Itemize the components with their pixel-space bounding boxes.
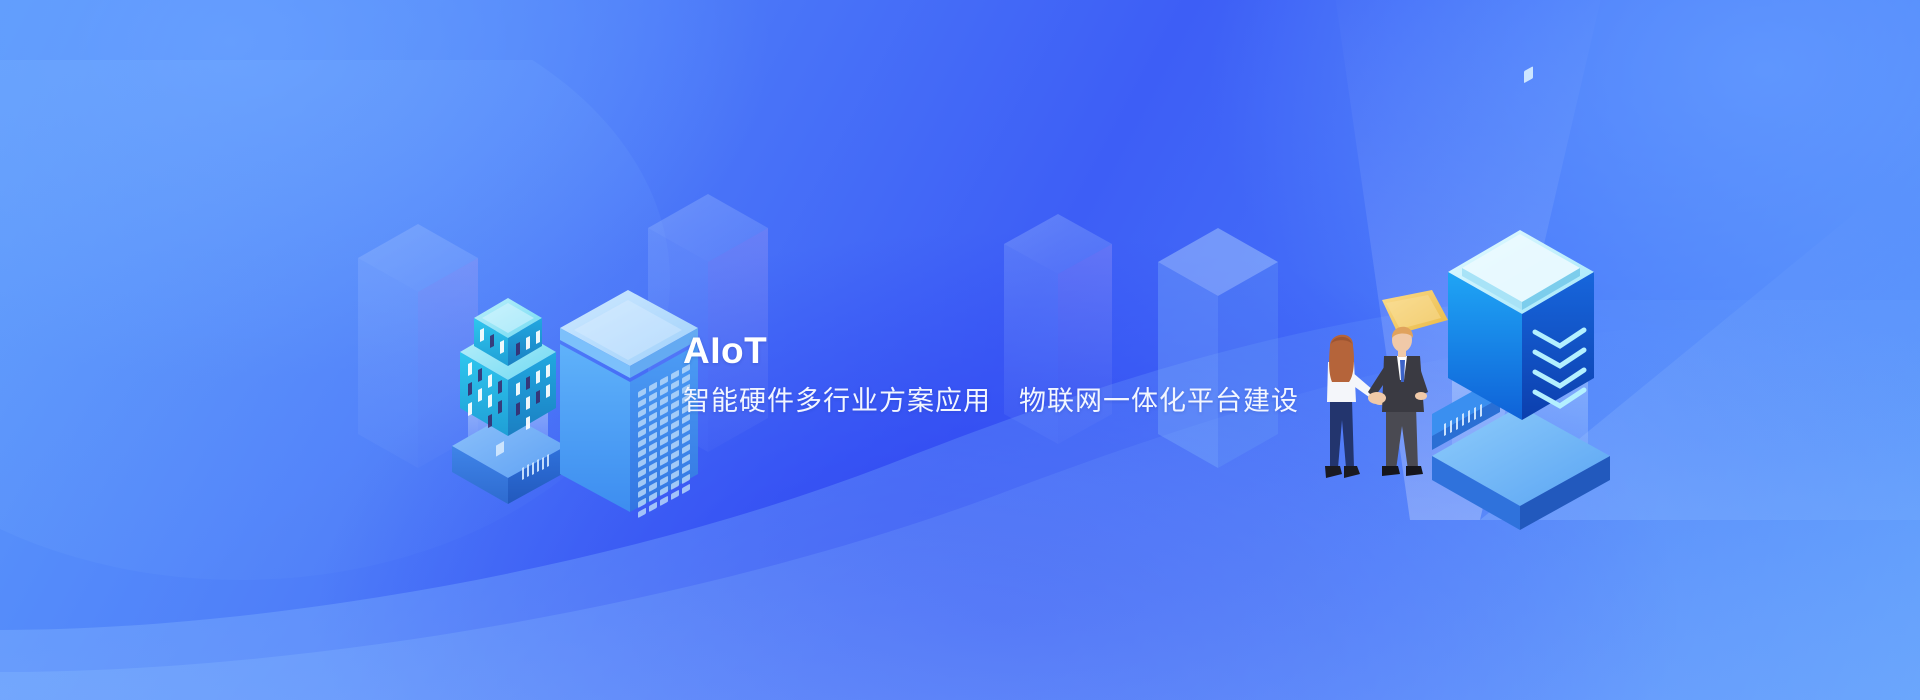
banner-copy: AIoT 智能硬件多行业方案应用 物联网一体化平台建设	[683, 329, 1299, 419]
aiot-hero-banner: AIoT 智能硬件多行业方案应用 物联网一体化平台建设	[0, 0, 1920, 700]
woman-shoe-left	[1325, 466, 1342, 478]
man-trousers	[1386, 406, 1418, 470]
man-shoe-right	[1406, 466, 1423, 476]
woman-trousers	[1330, 400, 1354, 468]
person-woman	[1325, 335, 1387, 478]
man-shoe-left	[1382, 466, 1400, 476]
handshake	[1368, 392, 1386, 404]
man-hand-right	[1415, 392, 1427, 400]
woman-shoe-right	[1344, 466, 1360, 478]
page-subtitle: 智能硬件多行业方案应用 物联网一体化平台建设	[683, 383, 1299, 419]
page-title: AIoT	[683, 329, 1299, 373]
